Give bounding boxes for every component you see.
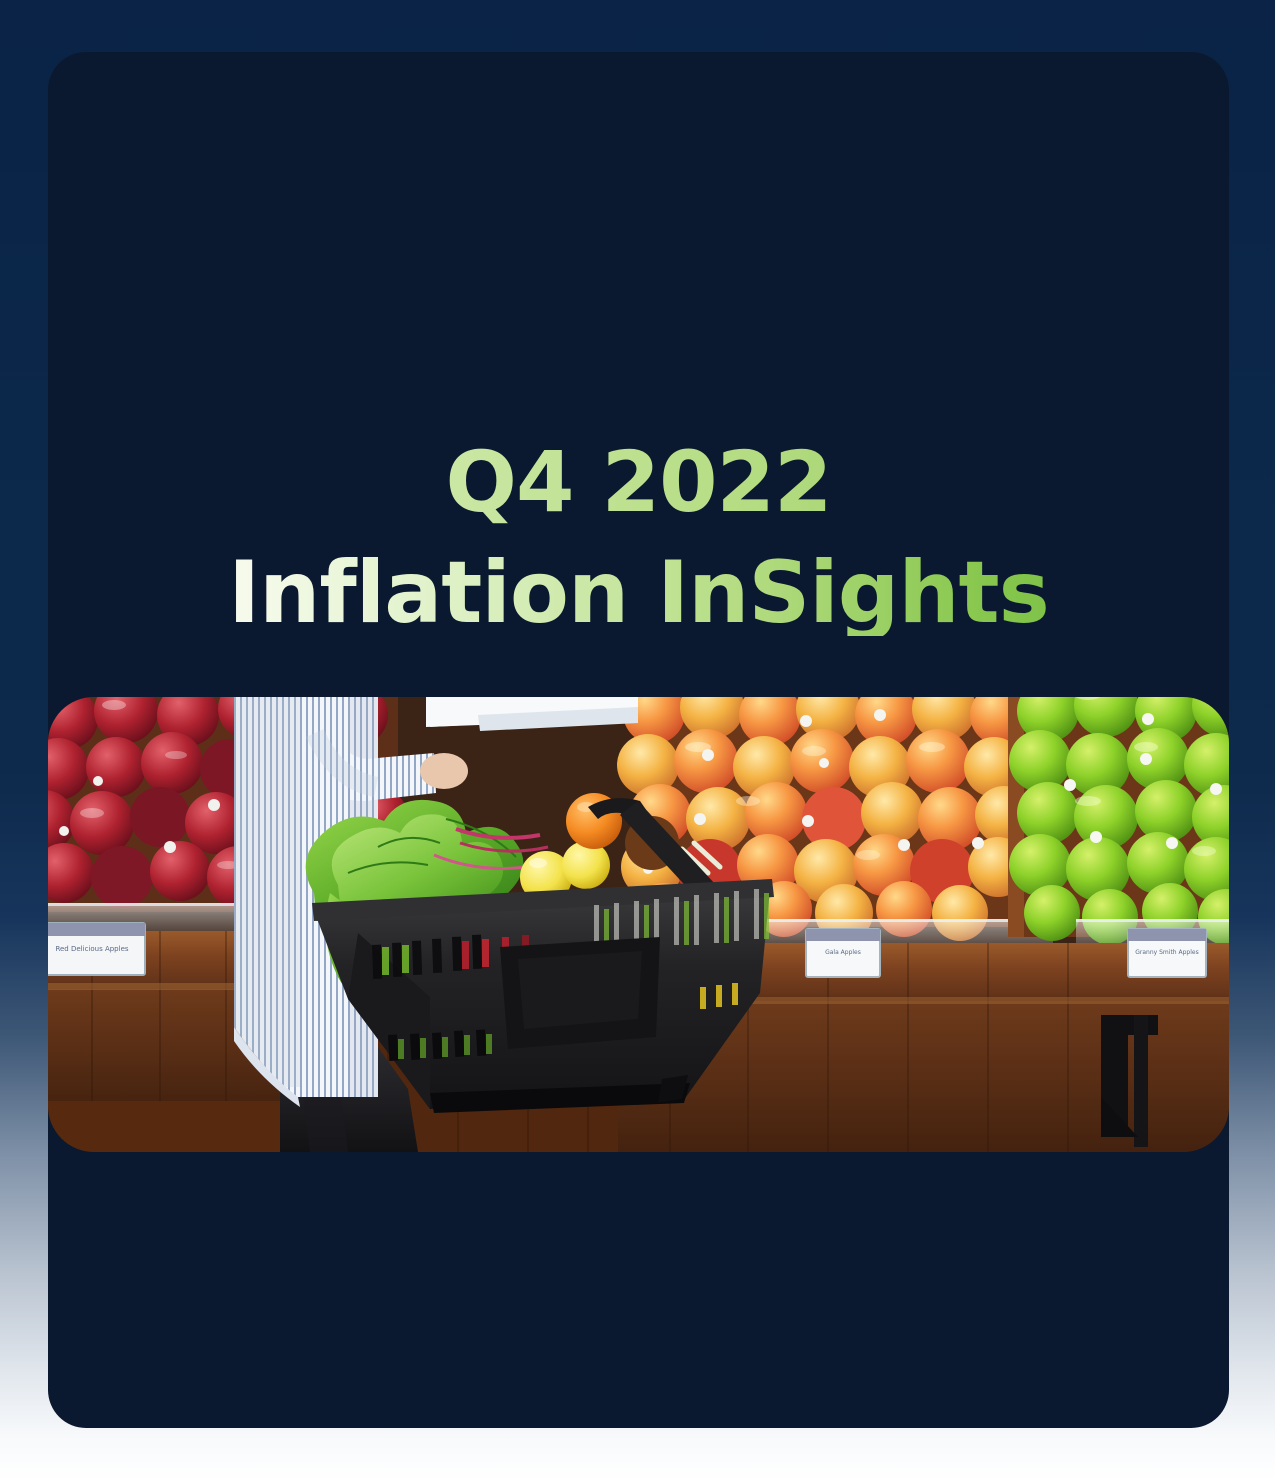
svg-text:Red Delicious Apples: Red Delicious Apples: [55, 945, 128, 953]
page-title-line-2: Inflation InSights: [48, 550, 1229, 636]
hero-card: Q4 2022 Inflation InSights Shopper carry…: [48, 52, 1229, 1428]
hero-photo: Shopper carrying a black plastic grocery…: [48, 697, 1229, 1152]
shelf-label-granny-smith: Granny Smith Apples: [1128, 929, 1206, 977]
page-title-line-1: Q4 2022: [48, 440, 1229, 524]
shelf-label-red-delicious: Red Delicious Apples: [48, 923, 145, 975]
svg-text:Granny Smith Apples: Granny Smith Apples: [1135, 949, 1198, 956]
granny-smith-bin: [1008, 697, 1229, 947]
svg-text:Gala Apples: Gala Apples: [825, 949, 861, 956]
title-block: Q4 2022 Inflation InSights: [48, 52, 1229, 636]
slide-page: Q4 2022 Inflation InSights Shopper carry…: [0, 0, 1275, 1480]
lemon: [562, 841, 610, 889]
shelf-label-gala: Gala Apples: [806, 929, 880, 977]
grocery-produce-illustration: Red Delicious Apples: [48, 697, 1229, 1152]
